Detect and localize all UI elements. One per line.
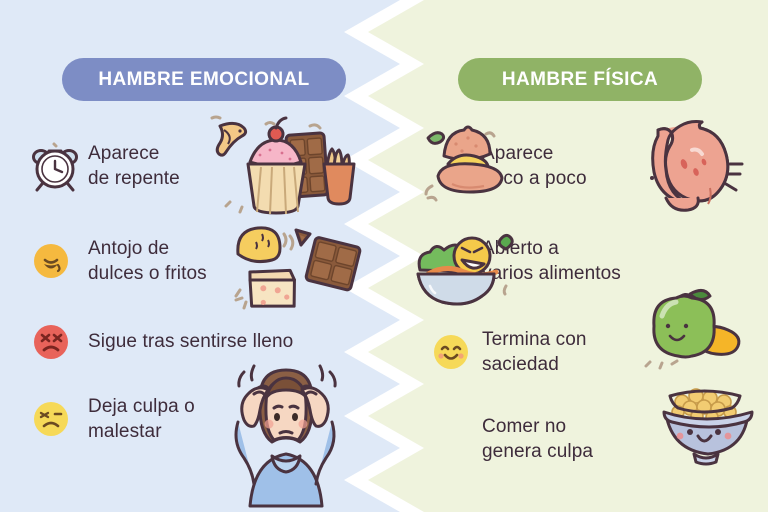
rice-bowl-icon [424,412,478,466]
list-item: Deja culpa o malestar [28,376,378,462]
list-item: Antojo de dulces o fritos [28,214,378,308]
header-emotional-hunger: HAMBRE EMOCIONAL [62,58,346,101]
header-physical-hunger: HAMBRE FÍSICA [458,58,702,101]
list-item: Termina con saciedad [424,308,764,396]
list-item-line2: dulces o fritos [88,261,207,286]
sad-face-icon [28,392,82,446]
list-item-line2: poco a poco [482,166,587,191]
alarm-clock-icon [28,139,82,193]
header-emotional-label: HAMBRE EMOCIONAL [98,69,309,91]
list-item-line2: malestar [88,419,195,444]
list-item-line1: Aparece [88,141,180,166]
list-item-text: Sigue tras sentirse lleno [88,329,293,354]
list-item: Aparece poco a poco [424,118,764,214]
list-item-line1: Deja culpa o [88,394,195,419]
smiling-face-icon [424,325,478,379]
physical-hunger-list: Aparece poco a poco Abierto a varios ali… [424,118,764,482]
list-item-text: Aparece de repente [88,141,180,191]
list-item-text: Aparece poco a poco [482,141,587,191]
list-item-line1: Abierto a [482,236,621,261]
list-item: Abierto a varios alimentos [424,214,764,308]
list-item-text: Deja culpa o malestar [88,394,195,444]
list-item-line1: Sigue tras sentirse lleno [88,329,293,354]
header-physical-label: HAMBRE FÍSICA [502,69,658,91]
infographic-canvas: HAMBRE EMOCIONAL HAMBRE FÍSICA Aparece [0,0,768,512]
list-item-text: Abierto a varios alimentos [482,236,621,286]
baked-potato-icon [424,139,478,193]
list-item-line1: Antojo de [88,236,207,261]
list-item: Sigue tras sentirse lleno [28,308,378,376]
list-item: Comer no genera culpa [424,396,764,482]
list-item-text: Comer no genera culpa [482,414,593,464]
list-item-text: Antojo de dulces o fritos [88,236,207,286]
angry-face-icon [28,315,82,369]
list-item-line1: Termina con [482,327,587,352]
list-item-line1: Comer no [482,414,593,439]
list-item-line2: de repente [88,166,180,191]
list-item: Aparece de repente [28,118,378,214]
list-item-line2: varios alimentos [482,261,621,286]
drooling-face-icon [28,234,82,288]
list-item-line2: genera culpa [482,439,593,464]
list-item-text: Termina con saciedad [482,327,587,377]
emotional-hunger-list: Aparece de repente Antojo de dulces o fr… [28,118,378,462]
salad-bowl-icon [424,234,478,288]
list-item-line2: saciedad [482,352,587,377]
list-item-line1: Aparece [482,141,587,166]
